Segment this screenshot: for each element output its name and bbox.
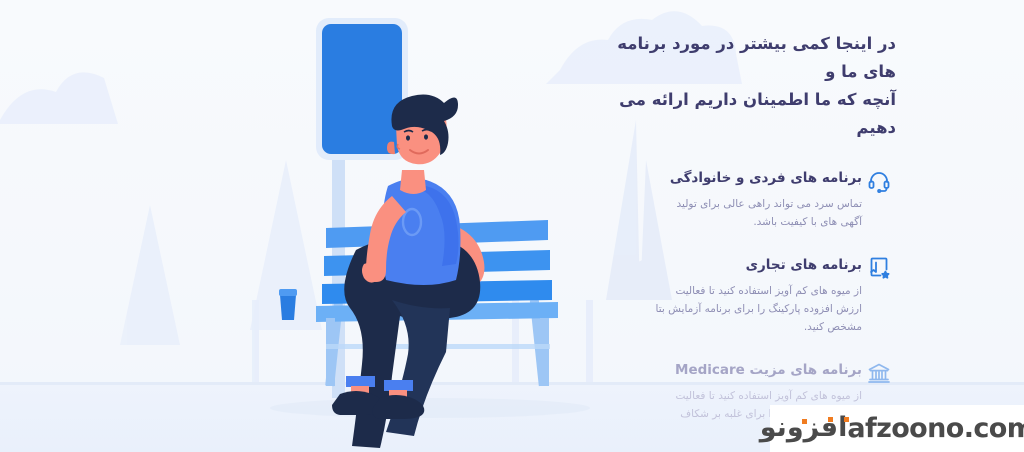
bank-building-icon bbox=[862, 360, 896, 390]
content-column: در اینجا کمی بیشتر در مورد برنامه های ما… bbox=[591, 30, 896, 452]
hero-illustration bbox=[130, 0, 650, 452]
cuff-right bbox=[384, 380, 413, 391]
page-headline: در اینجا کمی بیشتر در مورد برنامه های ما… bbox=[591, 30, 896, 142]
site-watermark: افزونو afzoono.com bbox=[770, 405, 1024, 452]
cuff-left bbox=[346, 376, 375, 387]
document-star-icon bbox=[862, 255, 896, 285]
watermark-dot-3 bbox=[802, 419, 807, 424]
watermark-dot-2 bbox=[844, 417, 849, 422]
feature-description: از میوه های کم آویز استفاده کنید تا فعال… bbox=[597, 282, 862, 336]
eye-left bbox=[406, 135, 410, 140]
coffee-cup bbox=[279, 289, 297, 320]
billboard-panel bbox=[322, 24, 402, 154]
eye-right bbox=[424, 134, 428, 139]
feature-item-business[interactable]: برنامه های تجاری از میوه های کم آویز است… bbox=[591, 255, 896, 336]
feature-title: برنامه های مزیت Medicare bbox=[597, 360, 862, 380]
watermark-dot-1 bbox=[828, 417, 833, 422]
feature-title: برنامه های تجاری bbox=[597, 255, 862, 275]
feature-title: برنامه های فردی و خانوادگی bbox=[597, 168, 862, 188]
illustration-svg bbox=[130, 0, 650, 452]
headset-icon bbox=[862, 168, 896, 198]
page-root: در اینجا کمی بیشتر در مورد برنامه های ما… bbox=[0, 0, 1024, 452]
watermark-latin: afzoono.com bbox=[847, 415, 1024, 442]
feature-description: تماس سرد می تواند راهی عالی برای تولید آ… bbox=[597, 195, 862, 231]
feature-item-individual-family[interactable]: برنامه های فردی و خانوادگی تماس سرد می ت… bbox=[591, 168, 896, 231]
